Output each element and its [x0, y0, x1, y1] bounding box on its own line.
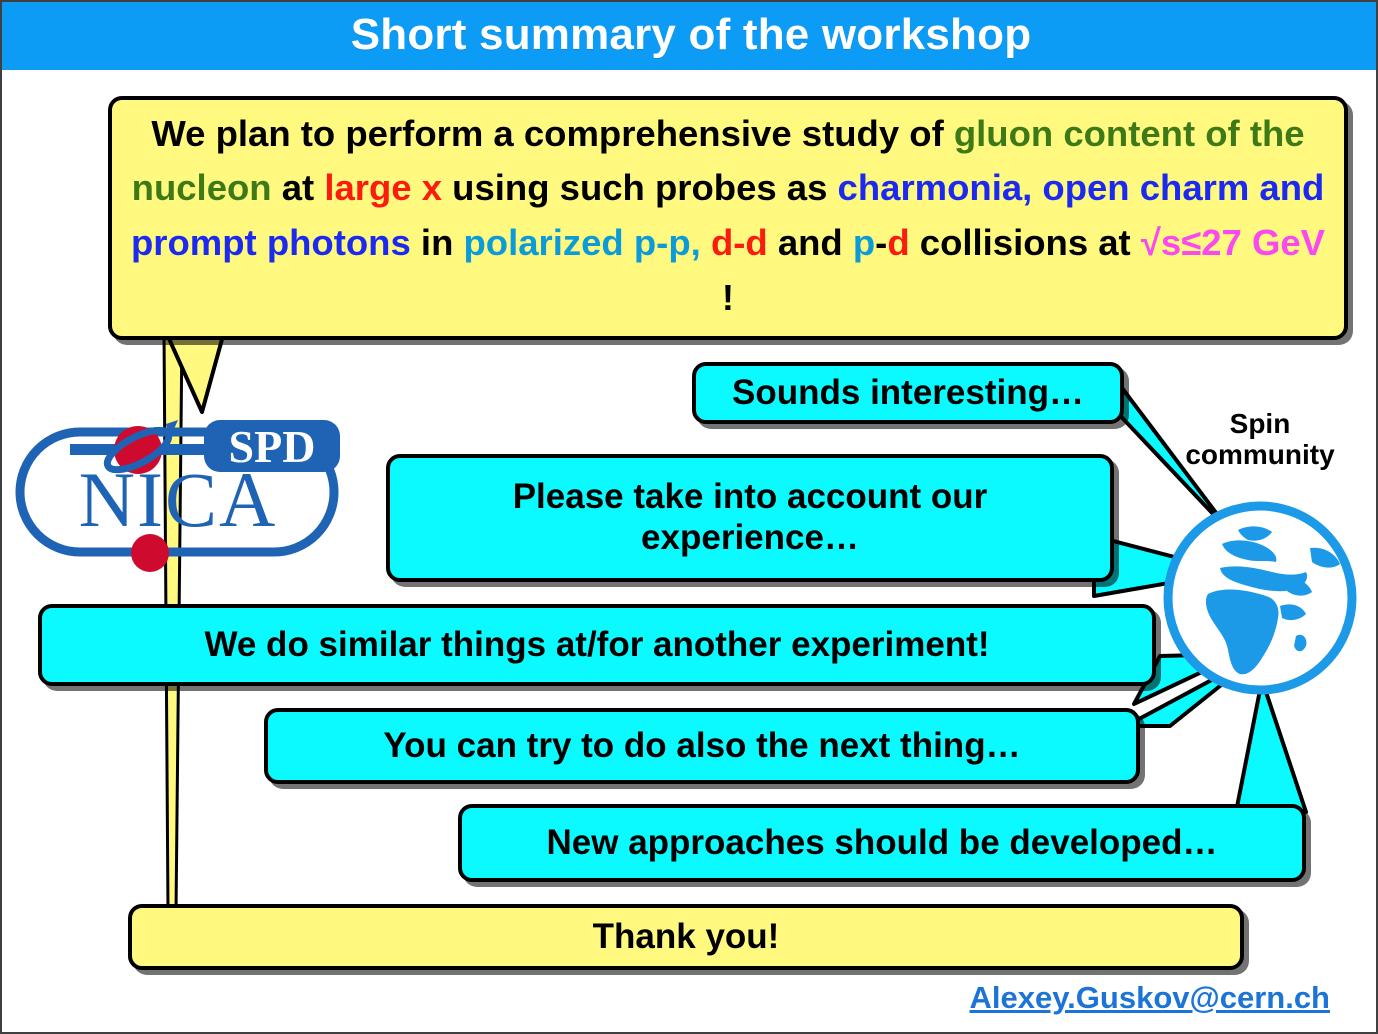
speech-bubble-we-do-similar-things-text: We do similar things at/for another expe… — [204, 625, 989, 666]
speech-bubble-please-take-into-account: Please take into account our experience… — [386, 454, 1114, 582]
thank-you-text: Thank you! — [593, 917, 780, 958]
speech-bubble-new-approaches: New approaches should be developed… — [458, 804, 1306, 882]
spin-community-label: Spin community — [1152, 408, 1368, 471]
main-statement-callout: We plan to perform a comprehensive study… — [108, 96, 1348, 340]
slide-title-bar: Short summary of the workshop — [0, 0, 1378, 70]
nica-wordmark: NICA — [79, 456, 278, 543]
thank-you-callout: Thank you! — [128, 904, 1244, 970]
page-title: Short summary of the workshop — [351, 10, 1032, 60]
contact-email-link[interactable]: Alexey.Guskov@cern.ch — [970, 980, 1330, 1016]
speech-bubble-you-can-try-next-thing-text: You can try to do also the next thing… — [383, 726, 1020, 767]
speech-bubble-you-can-try-next-thing: You can try to do also the next thing… — [264, 708, 1140, 784]
spin-community-line1: Spin — [1152, 408, 1368, 439]
speech-bubble-we-do-similar-things: We do similar things at/for another expe… — [38, 604, 1156, 686]
speech-bubble-please-take-into-account-text: Please take into account our experience… — [412, 477, 1088, 558]
collision-point-icon — [131, 534, 169, 572]
new-bubble-tail — [1220, 678, 1330, 818]
spin-community-line2: community — [1152, 439, 1368, 470]
main-statement-text: We plan to perform a comprehensive study… — [130, 107, 1326, 326]
speech-bubble-sounds-interesting: Sounds interesting… — [692, 362, 1124, 424]
speech-bubble-sounds-interesting-text: Sounds interesting… — [732, 373, 1084, 414]
speech-bubble-new-approaches-text: New approaches should be developed… — [547, 823, 1218, 864]
slide-canvas: Short summary of the workshop We plan to… — [0, 0, 1378, 1034]
nica-spd-logo: SPD NICA — [10, 398, 350, 578]
globe-icon — [1160, 498, 1360, 698]
